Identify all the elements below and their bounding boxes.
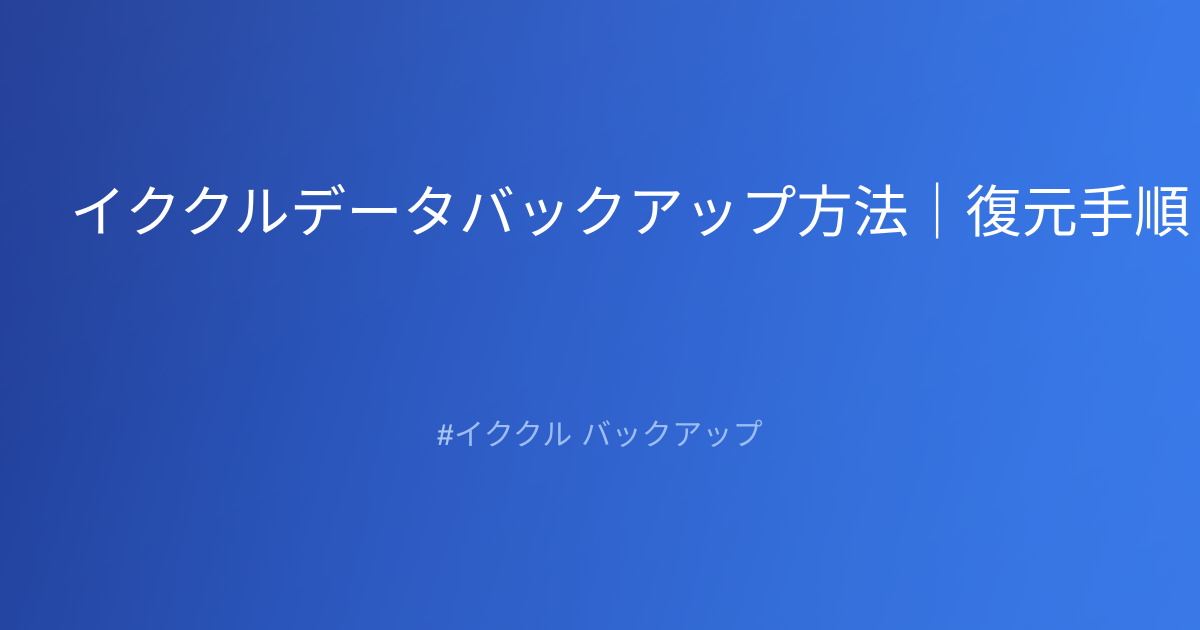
card-content: イククルデータバックアップ方法｜復元手順 #イククル バックアップ [0,175,1200,455]
page-title: イククルデータバックアップ方法｜復元手順 [70,175,1130,250]
og-image-card: イククルデータバックアップ方法｜復元手順 #イククル バックアップ [0,0,1200,630]
hashtag-label: #イククル バックアップ [437,416,763,455]
hash-symbol-icon: # [437,419,454,452]
title-block: イククルデータバックアップ方法｜復元手順 [70,175,1130,250]
hashtag-text: イククル バックアップ [454,419,763,452]
